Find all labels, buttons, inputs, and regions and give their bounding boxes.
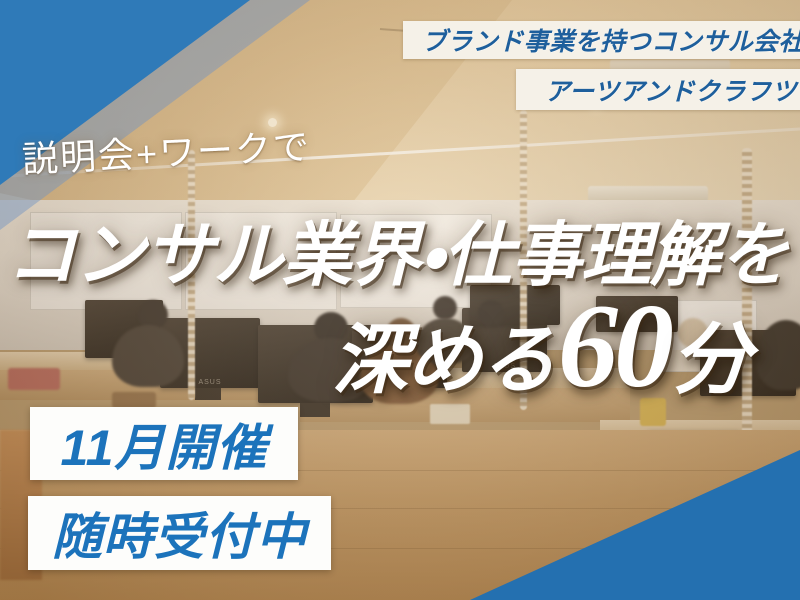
- monitor-brand-label: ASUS: [198, 379, 221, 386]
- photo-person: [112, 325, 184, 387]
- badge-company-label: ブランド事業を持つコンサル会社: [422, 22, 800, 58]
- badge-application-status: 随時受付中: [28, 496, 331, 570]
- photo-desk-item: [112, 392, 156, 408]
- badge-company: ブランド事業を持つコンサル会社: [403, 21, 800, 59]
- photo-desk-item: [8, 368, 60, 390]
- photo-desk-item: [430, 404, 470, 424]
- badge-brand-name: アーツアンドクラフツ: [516, 69, 800, 110]
- photo-monitor-stand: [195, 388, 221, 400]
- headline-duration-unit: 分: [672, 321, 748, 399]
- headline-secondary: 深める 60 分: [332, 286, 748, 406]
- headline-duration-number: 60: [558, 286, 670, 406]
- badge-event-month: 11月開催: [30, 407, 298, 480]
- badge-application-status-label: 随時受付中: [52, 497, 307, 569]
- badge-brand-label: アーツアンドクラフツ: [545, 72, 797, 108]
- photo-monitor-stand: [300, 403, 330, 417]
- badge-event-month-label: 11月開催: [61, 408, 268, 480]
- headline-primary: コンサル業界・仕事理解を: [6, 222, 788, 292]
- headline-secondary-kana: 深める: [332, 323, 554, 399]
- promo-banner: ASUS ASUS: [0, 0, 800, 600]
